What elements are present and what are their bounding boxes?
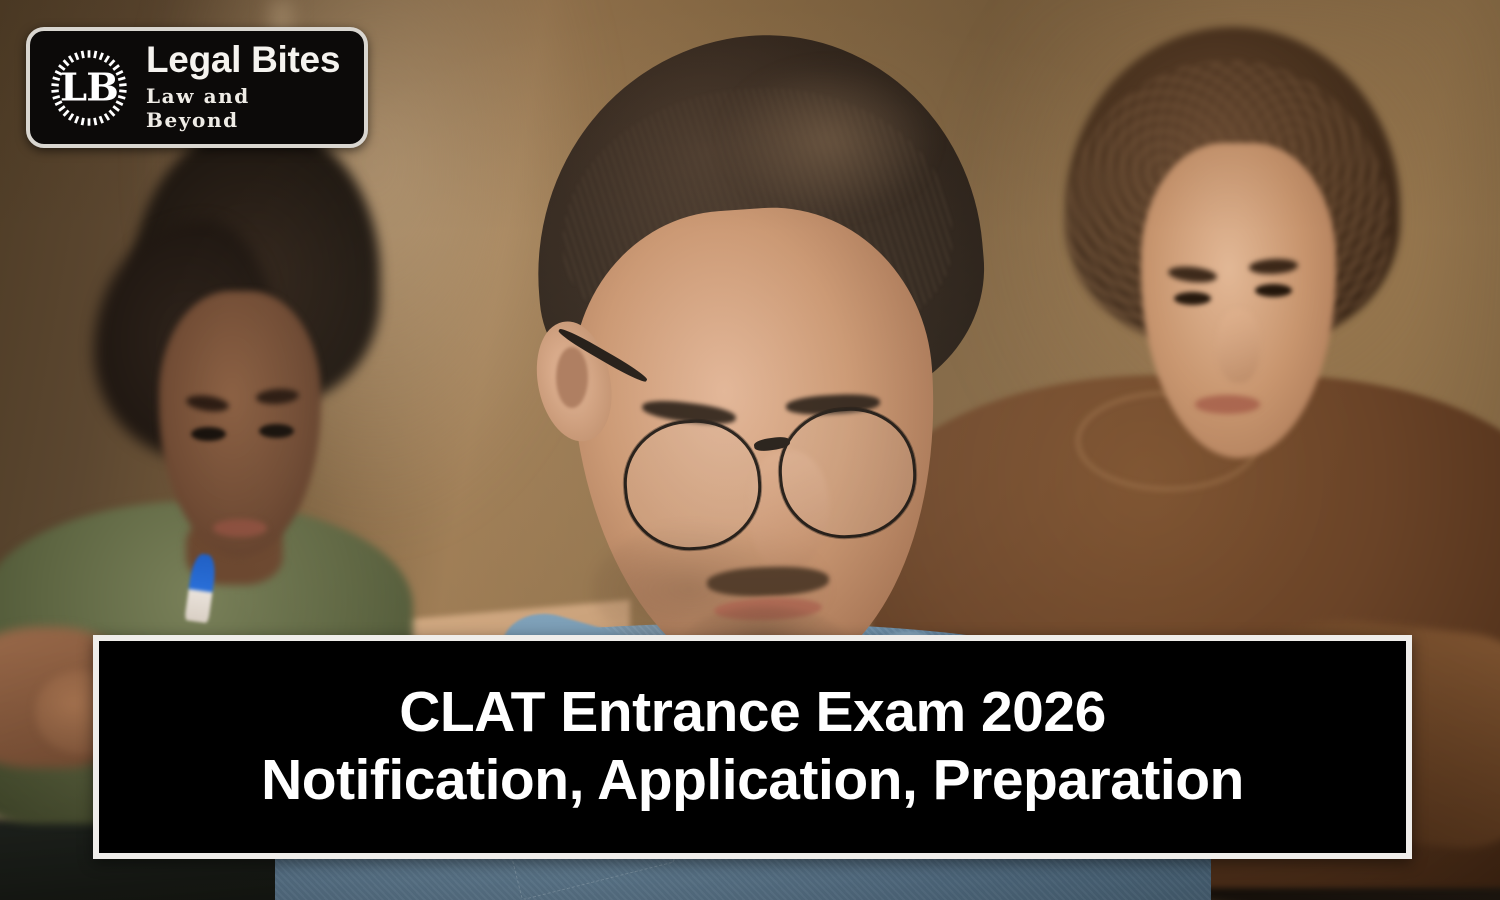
student-right-eye-right	[1255, 284, 1293, 297]
banner-title-line-1: CLAT Entrance Exam 2026	[399, 681, 1106, 745]
student-left-eye-right	[259, 424, 294, 438]
student-center-hair-highlight	[721, 62, 937, 218]
student-left-lips	[213, 519, 267, 537]
logo-tagline: Law and Beyond	[146, 84, 350, 132]
student-right-lips	[1195, 395, 1260, 413]
banner-title-line-2: Notification, Application, Preparation	[261, 749, 1244, 813]
svg-text:LB: LB	[60, 65, 118, 110]
student-center-ear-inner	[556, 347, 588, 407]
title-banner: CLAT Entrance Exam 2026 Notification, Ap…	[93, 635, 1412, 859]
student-right-nose	[1217, 309, 1260, 384]
legal-bites-logo[interactable]: LB Legal Bites Law and Beyond	[26, 27, 368, 148]
banner-image: LB Legal Bites Law and Beyond CLAT Entra…	[0, 0, 1500, 900]
lb-monogram-icon: LB	[48, 47, 130, 129]
logo-title: Legal Bites	[146, 41, 350, 79]
